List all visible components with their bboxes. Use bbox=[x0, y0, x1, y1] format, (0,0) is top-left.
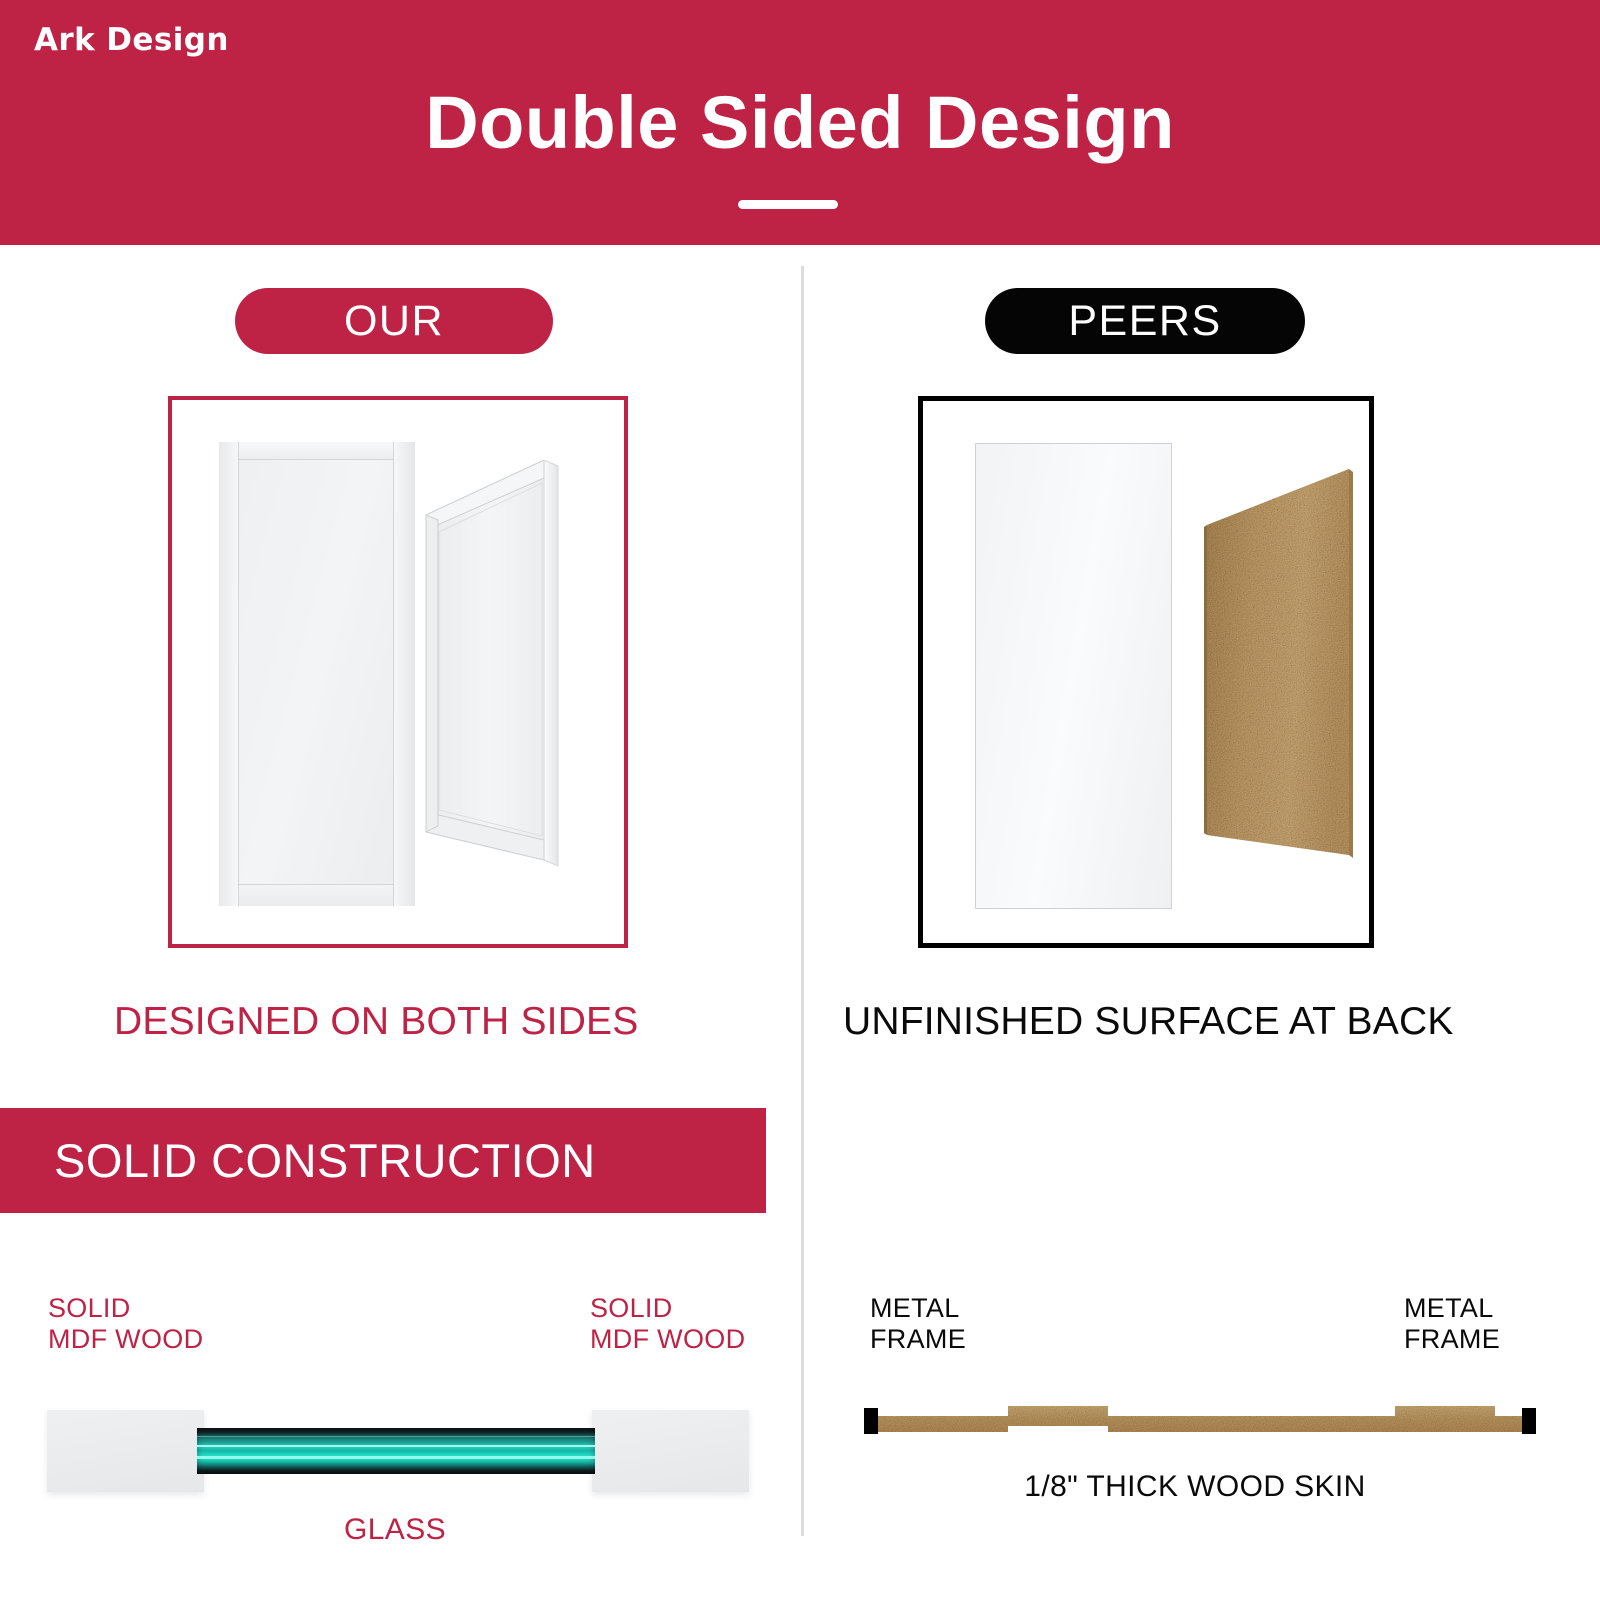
peers-label-metal-right: METAL FRAME bbox=[1404, 1293, 1500, 1355]
peers-product-image-frame bbox=[918, 396, 1374, 948]
page-header: Ark Design Double Sided Design bbox=[0, 0, 1600, 245]
our-door-top-rail bbox=[219, 442, 415, 460]
peers-caption: UNFINISHED SURFACE AT BACK bbox=[843, 1000, 1454, 1044]
badge-peers: PEERS bbox=[985, 288, 1305, 354]
badge-our: OUR bbox=[235, 288, 553, 354]
our-label-mdf-left: SOLID MDF WOOD bbox=[48, 1293, 203, 1355]
glass-highlight-top bbox=[197, 1436, 595, 1437]
peers-label-metal-left: METAL FRAME bbox=[870, 1293, 966, 1355]
glass-highlight-low bbox=[197, 1456, 595, 1459]
our-label-glass: GLASS bbox=[0, 1513, 790, 1547]
our-label-mdf-right-line1: SOLID bbox=[590, 1293, 745, 1324]
our-product-image-frame bbox=[168, 396, 628, 948]
our-door-recessed-panel bbox=[240, 461, 392, 883]
title-underline-dash bbox=[738, 200, 838, 209]
our-label-mdf-left-line1: SOLID bbox=[48, 1293, 203, 1324]
our-cross-section-diagram: SOLID MDF WOOD SOLID MDF WOOD GLASS bbox=[0, 1270, 800, 1600]
peers-label-wood-skin: 1/8" THICK WOOD SKIN bbox=[800, 1470, 1590, 1504]
peers-label-metal-left-line2: FRAME bbox=[870, 1324, 966, 1355]
our-caption: DESIGNED ON BOTH SIDES bbox=[114, 1000, 638, 1044]
peers-door-angled-raw-panel bbox=[1201, 463, 1361, 903]
our-mdf-block-left bbox=[47, 1410, 204, 1492]
our-label-mdf-left-line2: MDF WOOD bbox=[48, 1324, 203, 1355]
solid-construction-banner: SOLID CONSTRUCTION bbox=[0, 1108, 766, 1213]
peers-label-metal-left-line1: METAL bbox=[870, 1293, 966, 1324]
our-door-front-panel bbox=[219, 442, 415, 906]
our-label-mdf-right-line2: MDF WOOD bbox=[590, 1324, 745, 1355]
peers-label-metal-right-line1: METAL bbox=[1404, 1293, 1500, 1324]
our-door-left-stile bbox=[219, 442, 239, 906]
solid-construction-label: SOLID CONSTRUCTION bbox=[54, 1133, 596, 1188]
peers-wood-skin-profile bbox=[860, 1402, 1540, 1450]
our-door-bottom-rail bbox=[219, 884, 415, 906]
peers-label-metal-right-line2: FRAME bbox=[1404, 1324, 1500, 1355]
our-door-angled-panel bbox=[422, 460, 562, 900]
our-door-right-stile bbox=[393, 442, 415, 906]
our-mdf-block-right bbox=[592, 1410, 749, 1492]
our-label-mdf-right: SOLID MDF WOOD bbox=[590, 1293, 745, 1355]
glass-highlight-mid bbox=[197, 1445, 595, 1447]
metal-frame-cap-right bbox=[1522, 1408, 1536, 1434]
page-title: Double Sided Design bbox=[0, 86, 1600, 160]
metal-frame-cap-left bbox=[864, 1408, 878, 1434]
peers-cross-section-diagram: METAL FRAME METAL FRAME bbox=[800, 1270, 1600, 1600]
our-glass-core-strip bbox=[197, 1428, 595, 1474]
brand-logo: Ark Design bbox=[34, 22, 229, 58]
peers-door-front-panel bbox=[975, 443, 1172, 909]
